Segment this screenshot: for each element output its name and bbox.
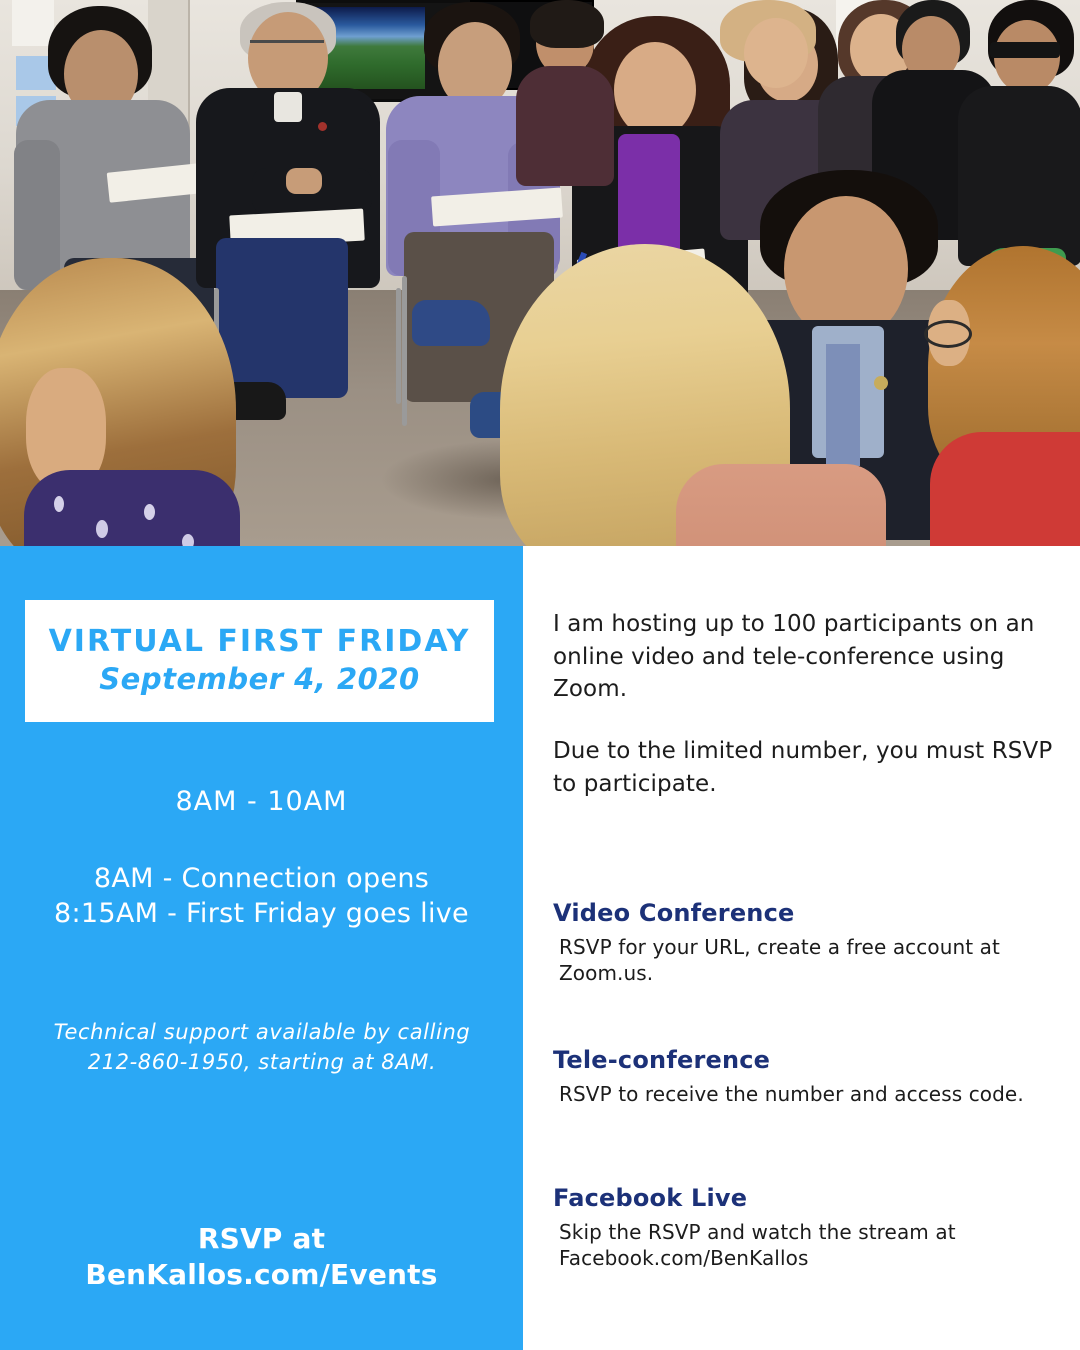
person-4-head bbox=[614, 42, 696, 138]
person-3-sneaker-1 bbox=[412, 300, 490, 346]
intro-paragraph-1: I am hosting up to 100 participants on a… bbox=[553, 608, 1063, 706]
person-2-hand bbox=[286, 168, 322, 194]
event-flyer: Virtual First Friday September 4, 2020 8… bbox=[0, 0, 1080, 1350]
technical-support-note: Technical support available by calling 2… bbox=[28, 1018, 496, 1078]
fg-left-pattern-4 bbox=[182, 534, 194, 546]
event-schedule: 8AM - Connection opens 8:15AM - First Fr… bbox=[34, 861, 489, 931]
chair-leg-b bbox=[402, 276, 407, 426]
event-hours: 8AM - 10AM bbox=[0, 786, 523, 817]
fg-left-pattern-3 bbox=[144, 504, 155, 520]
section-video-conference-body: RSVP for your URL, create a free account… bbox=[553, 934, 1065, 986]
person-3-chair-leg bbox=[396, 288, 401, 404]
section-video-conference: Video Conference RSVP for your URL, crea… bbox=[553, 899, 1065, 986]
bg-d-torso bbox=[958, 86, 1080, 266]
fg-right-red-top bbox=[930, 432, 1080, 546]
intro-spacer bbox=[553, 706, 1063, 735]
event-title: Virtual First Friday bbox=[49, 626, 471, 658]
person-2-logo bbox=[318, 122, 327, 131]
bg-e-hair bbox=[530, 0, 604, 48]
title-box: Virtual First Friday September 4, 2020 bbox=[25, 600, 494, 722]
fg-right-glasses bbox=[924, 320, 972, 348]
person-2-undershirt bbox=[274, 92, 302, 122]
photo-scene bbox=[0, 0, 1080, 546]
person-2-legs bbox=[216, 238, 348, 398]
person-2-glasses bbox=[250, 40, 324, 55]
intro-paragraph-2: Due to the limited number, you must RSVP… bbox=[553, 735, 1063, 800]
right-details-column: I am hosting up to 100 participants on a… bbox=[523, 546, 1080, 1350]
bg-d-glasses bbox=[990, 42, 1060, 58]
section-facebook-live-heading: Facebook Live bbox=[553, 1184, 1065, 1212]
section-tele-conference-body: RSVP to receive the number and access co… bbox=[553, 1081, 1065, 1107]
section-video-conference-heading: Video Conference bbox=[553, 899, 1065, 927]
fg-left-pattern-2 bbox=[96, 520, 108, 538]
event-date: September 4, 2020 bbox=[99, 662, 419, 697]
intro-block: I am hosting up to 100 participants on a… bbox=[553, 608, 1063, 800]
bg-e-torso bbox=[516, 66, 614, 186]
person-4-purple-top bbox=[618, 134, 680, 260]
meeting-photo bbox=[0, 0, 1080, 546]
section-tele-conference-heading: Tele-conference bbox=[553, 1046, 1065, 1074]
fg-center-jacket bbox=[676, 464, 886, 546]
section-tele-conference: Tele-conference RSVP to receive the numb… bbox=[553, 1046, 1065, 1107]
fg-left-pattern-1 bbox=[54, 496, 64, 512]
person-1-arm bbox=[14, 140, 60, 290]
left-info-panel: Virtual First Friday September 4, 2020 8… bbox=[0, 546, 523, 1350]
rsvp-callout[interactable]: RSVP at BenKallos.com/Events bbox=[20, 1221, 503, 1293]
bg-f-head bbox=[744, 18, 808, 88]
speaker-lapel-pin bbox=[874, 376, 888, 390]
section-facebook-live-body: Skip the RSVP and watch the stream at Fa… bbox=[553, 1219, 1065, 1271]
wall-paper-white bbox=[12, 0, 54, 46]
speaker-tie bbox=[826, 344, 860, 466]
section-facebook-live: Facebook Live Skip the RSVP and watch th… bbox=[553, 1184, 1065, 1271]
